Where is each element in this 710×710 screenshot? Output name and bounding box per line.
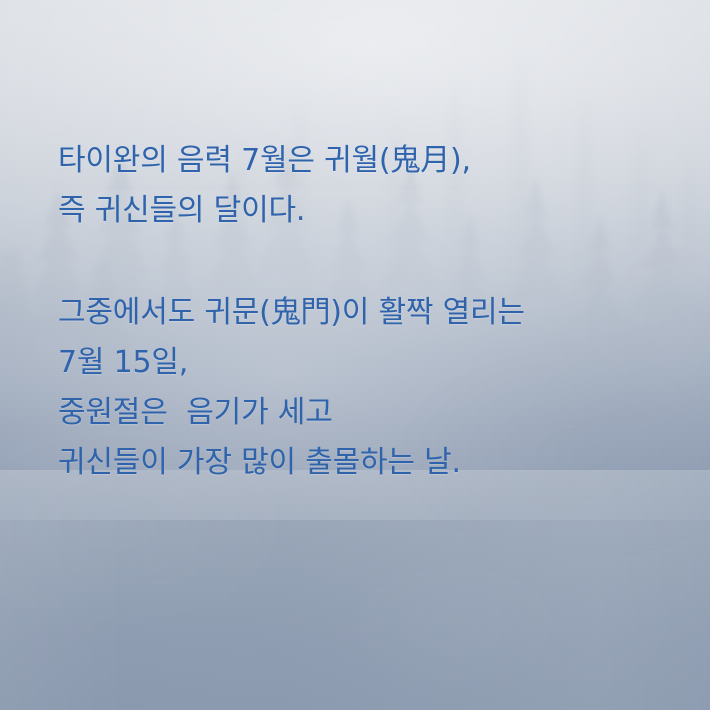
caption-paragraph-1: 타이완의 음력 7월은 귀월(鬼月), 즉 귀신들의 달이다. bbox=[58, 136, 471, 236]
caption-line-4: 7월 15일, bbox=[58, 338, 525, 388]
caption-line-5: 중원절은 음기가 세고 bbox=[58, 388, 525, 438]
caption-text-layer: 타이완의 음력 7월은 귀월(鬼月), 즉 귀신들의 달이다. 그중에서도 귀문… bbox=[0, 0, 710, 710]
caption-line-2: 즉 귀신들의 달이다. bbox=[58, 186, 471, 236]
image-canvas: 타이완의 음력 7월은 귀월(鬼月), 즉 귀신들의 달이다. 그중에서도 귀문… bbox=[0, 0, 710, 710]
caption-line-6: 귀신들이 가장 많이 출몰하는 날. bbox=[58, 438, 525, 488]
caption-line-1: 타이완의 음력 7월은 귀월(鬼月), bbox=[58, 136, 471, 186]
caption-paragraph-2: 그중에서도 귀문(鬼門)이 활짝 열리는 7월 15일, 중원절은 음기가 세고… bbox=[58, 288, 525, 488]
caption-line-3: 그중에서도 귀문(鬼門)이 활짝 열리는 bbox=[58, 288, 525, 338]
